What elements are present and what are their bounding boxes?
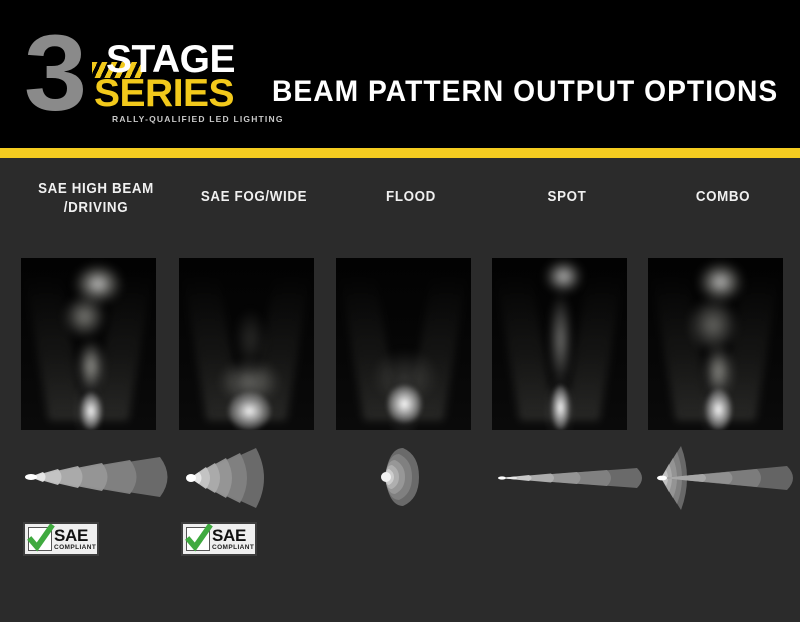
sae-badge-text: SAE COMPLIANT bbox=[212, 527, 254, 552]
sae-badge-text: SAE COMPLIANT bbox=[54, 527, 96, 552]
beam-diagram-sae-high-beam-driving bbox=[10, 442, 182, 512]
column-spot: SPOT bbox=[489, 158, 645, 622]
diode-dynamics-stage-series-logo: 3 STAGE SERIES RALLY-QUALIFIED LED LIGHT… bbox=[24, 26, 254, 130]
column-label-line2: /DRIVING bbox=[24, 199, 168, 218]
beam-diagram-sae-fog-wide bbox=[168, 442, 340, 512]
checkmark-icon bbox=[28, 527, 52, 551]
beam-glow-hotspot bbox=[228, 392, 271, 430]
logo-word-series: SERIES bbox=[94, 74, 234, 113]
sae-badge-sub-label: COMPLIANT bbox=[54, 545, 96, 552]
beam-diagram-combo bbox=[637, 442, 800, 512]
beam-photo-flood bbox=[336, 258, 471, 430]
beam-photo-sae-high-beam-driving bbox=[21, 258, 156, 430]
column-label-sae-fog-wide: SAE FOG/WIDE bbox=[182, 188, 326, 207]
column-label-spot: SPOT bbox=[495, 188, 639, 207]
beam-glow-mid bbox=[64, 296, 105, 337]
column-label-line1: SAE HIGH BEAM bbox=[24, 180, 168, 199]
beam-photo-sae-fog-wide bbox=[179, 258, 314, 430]
column-sae-high-beam-driving: SAE HIGH BEAM /DRIVING bbox=[18, 158, 174, 622]
beam-glow-far bbox=[236, 310, 266, 368]
column-label-combo: COMBO bbox=[651, 188, 795, 207]
column-combo: COMBO bbox=[645, 158, 800, 622]
beam-glow-hotspot bbox=[80, 392, 102, 430]
beam-pattern-columns: SAE HIGH BEAM /DRIVING bbox=[0, 158, 800, 622]
sae-badge-sub-label: COMPLIANT bbox=[212, 545, 254, 552]
column-label-sae-high-beam-driving: SAE HIGH BEAM /DRIVING bbox=[24, 180, 168, 218]
checkmark-icon bbox=[186, 527, 210, 551]
beam-photo-spot bbox=[492, 258, 627, 430]
sae-compliant-badge: SAE COMPLIANT bbox=[23, 522, 99, 556]
sae-badge-main-label: SAE bbox=[212, 527, 254, 544]
logo-tagline: RALLY-QUALIFIED LED LIGHTING bbox=[112, 114, 284, 124]
yellow-accent-divider bbox=[0, 148, 800, 158]
beam-diagram-spot bbox=[481, 442, 653, 512]
column-flood: FLOOD bbox=[333, 158, 489, 622]
page-title: BEAM PATTERN OUTPUT OPTIONS bbox=[272, 75, 778, 109]
beam-pattern-infographic: 3 STAGE SERIES RALLY-QUALIFIED LED LIGHT… bbox=[0, 0, 800, 622]
beam-glow-hotspot bbox=[705, 389, 732, 430]
column-sae-fog-wide: SAE FOG/WIDE bbox=[176, 158, 332, 622]
column-label-flood: FLOOD bbox=[339, 188, 483, 207]
beam-glow-mid bbox=[689, 299, 738, 351]
beam-photo-combo bbox=[648, 258, 783, 430]
beam-diagram-flood bbox=[325, 442, 497, 512]
sae-badge-main-label: SAE bbox=[54, 527, 96, 544]
header-bar: 3 STAGE SERIES RALLY-QUALIFIED LED LIGHT… bbox=[0, 0, 800, 148]
sae-compliant-badge: SAE COMPLIANT bbox=[181, 522, 257, 556]
